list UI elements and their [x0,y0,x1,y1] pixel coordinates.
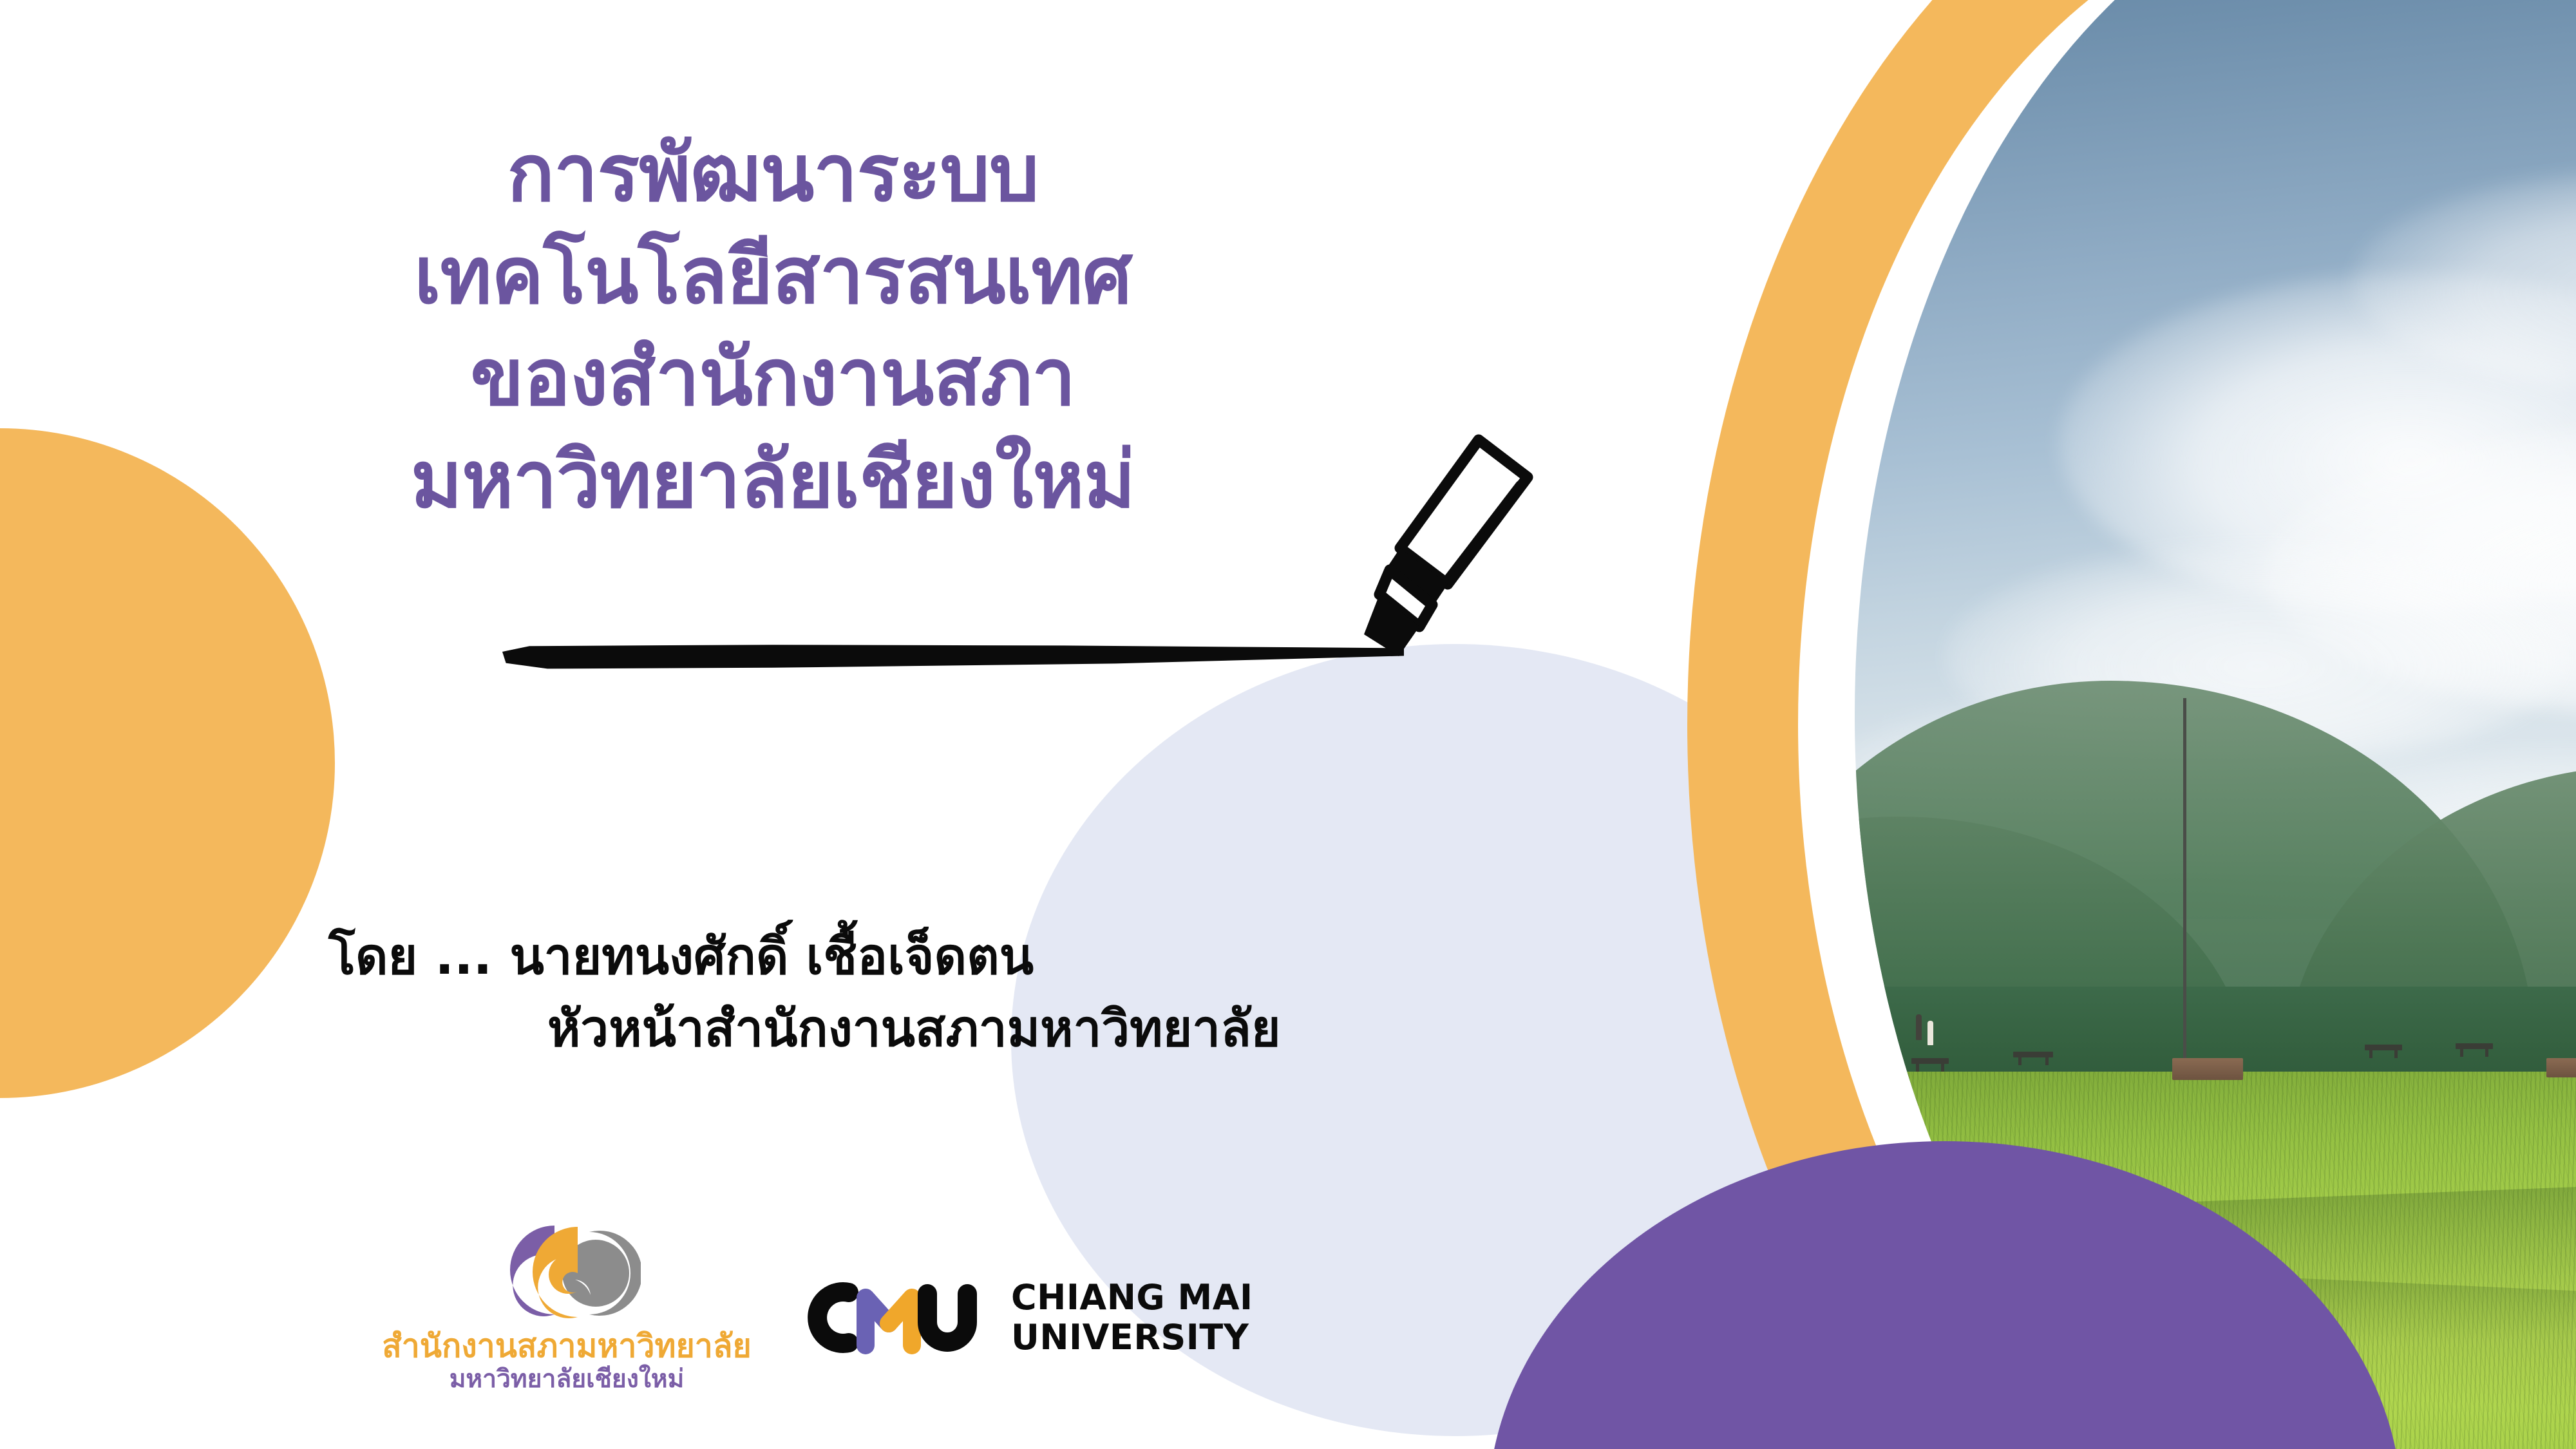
title-line-3: ของสำนักงานสภา [193,327,1352,429]
title-line-1: การพัฒนาระบบ [193,122,1352,225]
title-line-4: มหาวิทยาลัยเชียงใหม่ [193,429,1352,531]
shelter [2546,1058,2576,1077]
bench [2456,1043,2493,1049]
cmu-monogram-icon [799,1280,992,1356]
university-council-office-logo: สำนักงานสภามหาวิทยาลัย มหาวิทยาลัยเชียงใ… [386,1217,747,1394]
person [1916,1014,1922,1040]
slide-canvas: การพัฒนาระบบ เทคโนโลยีสารสนเทศ ของสำนักง… [0,0,2576,1449]
marker-pen-icon [1352,422,1571,679]
logo-row: สำนักงานสภามหาวิทยาลัย มหาวิทยาลัยเชียงใ… [386,1195,1198,1394]
person [1927,1021,1933,1045]
cmu-wordmark: CHIANG MAI UNIVERSITY [1011,1280,1253,1355]
cmu-word-line-2: UNIVERSITY [1011,1320,1253,1355]
council-swirl-icon [493,1217,641,1325]
council-logo-text-thai-bottom: มหาวิทยาลัยเชียงใหม่ [450,1365,685,1394]
author-name-line: โดย ... นายทนงศักดิ์ เชื้อเจ็ดตน [328,921,1552,993]
marker-underline-stroke [502,644,1404,670]
bench [1911,1058,1949,1064]
author-credit: โดย ... นายทนงศักดิ์ เชื้อเจ็ดตน หัวหน้า… [328,921,1552,1066]
bench [2365,1045,2402,1050]
cmu-word-line-1: CHIANG MAI [1011,1280,1253,1315]
author-role-line: หัวหน้าสำนักงานสภามหาวิทยาลัย [328,993,1552,1065]
chiang-mai-university-logo: CHIANG MAI UNIVERSITY [799,1280,1253,1394]
council-logo-text-thai-top: สำนักงานสภามหาวิทยาลัย [382,1329,752,1364]
bench [2013,1052,2053,1057]
shelter [2172,1058,2243,1080]
title-line-2: เทคโนโลยีสารสนเทศ [193,225,1352,327]
page-title: การพัฒนาระบบ เทคโนโลยีสารสนเทศ ของสำนักง… [193,122,1352,531]
lamp-post [2183,698,2186,1072]
